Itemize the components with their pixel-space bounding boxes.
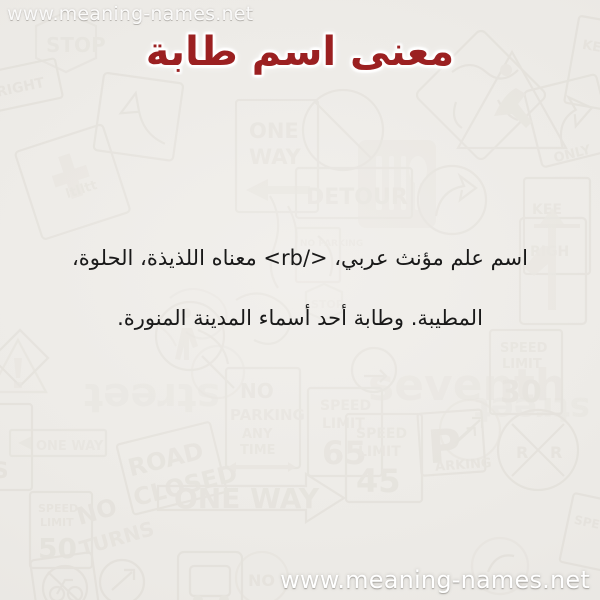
sign-speed-limit-50: SPEED LIMIT 50	[30, 492, 92, 568]
meaning-line-2: المطيبة. وطابة أحد أسماء المدينة المنورة…	[30, 288, 570, 348]
svg-text:ONE WAY: ONE WAY	[174, 482, 320, 515]
svg-text:street: street	[474, 389, 590, 429]
svg-text:LIMIT: LIMIT	[358, 444, 401, 460]
sign-crosswalk-arrow	[352, 348, 396, 392]
sign-no-bicycles	[30, 552, 100, 600]
sign-speed-limit-65: SPEED LIMIT 65	[308, 388, 382, 476]
svg-text:ONE: ONE	[249, 119, 299, 143]
svg-text:TURNS: TURNS	[77, 516, 157, 560]
svg-text:P: P	[426, 418, 463, 474]
sign-no-left-turn-mid	[192, 346, 244, 398]
svg-text:NO: NO	[240, 379, 274, 403]
svg-text:KEE: KEE	[532, 202, 562, 218]
sign-speed-limit-45: SPEED LIMIT 45	[346, 414, 422, 502]
svg-text:65: 65	[322, 434, 367, 472]
sign-railroad-rxr: R R	[498, 410, 578, 490]
sign-arrow-circle-left	[440, 400, 500, 460]
svg-text:street: street	[84, 374, 220, 420]
svg-text:SPEED: SPEED	[38, 502, 78, 515]
decor-seventh-street: seventh street street	[84, 360, 590, 429]
sign-one-way-bottom: ONE WAY	[158, 474, 344, 522]
svg-text:CLOSED: CLOSED	[130, 459, 240, 512]
svg-text:50: 50	[38, 532, 77, 565]
svg-text:LIMIT: LIMIT	[502, 357, 542, 372]
svg-text:TIME: TIME	[240, 443, 276, 458]
svg-text:SS: SS	[0, 459, 9, 484]
svg-text:LIMIT: LIMIT	[322, 416, 365, 432]
name-meaning-image: RIGHT ONE WAY ONLY	[0, 0, 600, 600]
svg-text:ARKING: ARKING	[435, 456, 492, 475]
sign-bus	[178, 552, 242, 600]
svg-text:ONE WAY: ONE WAY	[36, 439, 104, 454]
sign-road-closed: ROAD CLOSED	[115, 419, 242, 516]
sign-ped-arrow-bottom	[100, 560, 144, 600]
svg-text:SPE: SPE	[573, 513, 600, 532]
sign-partial-bottom-right: SPE	[559, 493, 600, 573]
watermark-top-left: www.meaning-names.net	[7, 3, 253, 25]
sign-parking-p: P ARKING	[417, 409, 492, 476]
svg-text:ANY: ANY	[242, 427, 273, 442]
watermark-bottom-right: www.meaning-names.net	[280, 566, 590, 594]
sign-no-parking-any-time: NO PARKING ANY TIME	[226, 368, 305, 472]
sign-no-turns: NO TURNS	[68, 485, 157, 561]
svg-text:ltlltt: ltlltt	[64, 178, 99, 202]
svg-text:NO: NO	[248, 571, 275, 590]
sign-restaurant	[358, 140, 436, 228]
sign-one-way-bottom-left: ONE WAY	[10, 430, 106, 456]
svg-text:SPEED: SPEED	[320, 398, 371, 414]
svg-text:RIGHT: RIGHT	[0, 75, 46, 101]
svg-text:ROAD: ROAD	[125, 437, 206, 483]
sign-roundabout-arrow	[418, 166, 486, 234]
sign-no-entry-mid	[303, 90, 383, 170]
sign-curve-arrow	[93, 73, 183, 161]
svg-text:NO: NO	[73, 493, 120, 531]
svg-text:WAY: WAY	[249, 145, 301, 169]
sign-only-right: ONLY	[524, 74, 600, 170]
svg-text:PARKING: PARKING	[230, 406, 305, 424]
svg-text:ONLY: ONLY	[552, 143, 593, 167]
svg-text:DETOUR: DETOUR	[306, 185, 408, 210]
sign-one-way-top: ONE WAY	[236, 100, 318, 212]
svg-text:R: R	[550, 443, 562, 462]
svg-text:30: 30	[500, 375, 542, 410]
svg-text:SPEED: SPEED	[356, 426, 407, 442]
sign-detour: DETOUR	[296, 168, 412, 218]
meaning-text-block: اسم علم مؤنث عربي، </rb> معناه اللذيذة، …	[30, 228, 570, 348]
page-title: معنى اسم طابة	[0, 29, 600, 75]
svg-text:seventh: seventh	[368, 360, 566, 411]
sign-railroad-crossing-left: ltlltt	[15, 124, 131, 240]
sign-partial-left-edge: T SS	[0, 404, 32, 490]
meaning-line-1: اسم علم مؤنث عربي، </rb> معناه اللذيذة، …	[30, 228, 570, 288]
svg-text:R: R	[516, 443, 528, 462]
svg-text:45: 45	[356, 462, 401, 500]
svg-text:LIMIT: LIMIT	[40, 516, 74, 529]
